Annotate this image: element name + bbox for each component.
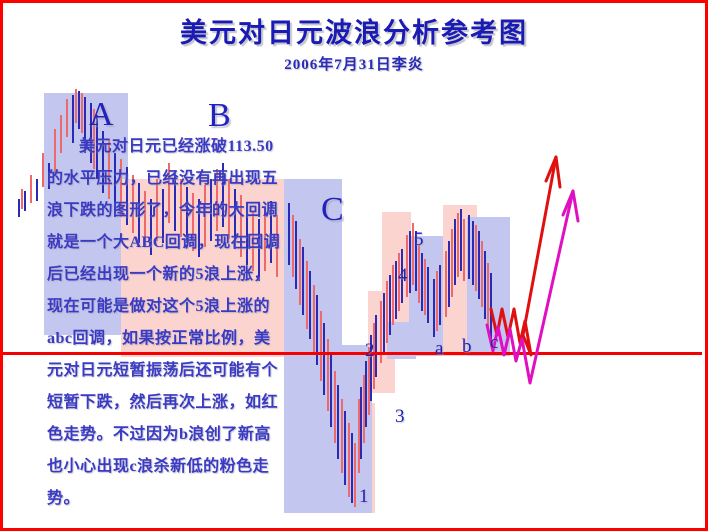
- correction-label-a: A: [89, 98, 114, 132]
- commentary-line: abc回调，如果按正常比例，美: [47, 323, 335, 355]
- commentary-line: 元对日元短暂振荡后还可能有个: [47, 355, 335, 387]
- commentary-line: 的水平压力，已经没有再出现五: [47, 163, 335, 195]
- commentary-line: 也小心出现c浪杀新低的粉色走: [47, 451, 335, 483]
- page-title: 美元对日元波浪分析参考图: [3, 19, 705, 49]
- red-projection: [491, 157, 560, 355]
- wave-label-c: c: [490, 333, 498, 352]
- wave-label-3: 3: [395, 407, 405, 426]
- commentary-line: 短暂下跌，然后再次上涨，如红: [47, 387, 335, 419]
- title-block: 美元对日元波浪分析参考图 2006年7月31日李炎: [3, 19, 705, 74]
- wave-label-2: 2: [365, 341, 375, 360]
- commentary-line: 美元对日元已经涨破113.50: [47, 131, 335, 163]
- correction-label-b: B: [208, 99, 231, 133]
- wave-label-1: 1: [359, 487, 369, 506]
- commentary-line: 就是一个大ABC回调，现在回调: [47, 227, 335, 259]
- commentary-line: 现在可能是做对这个5浪上涨的: [47, 291, 335, 323]
- page-subtitle: 2006年7月31日李炎: [3, 53, 705, 74]
- commentary-line: 色走势。不过因为b浪创了新高: [47, 419, 335, 451]
- commentary-text: 美元对日元已经涨破113.50 的水平压力，已经没有再出现五 浪下跌的图形了，今…: [47, 131, 335, 515]
- wave-label-5: 5: [414, 230, 424, 249]
- wave-label-4: 4: [398, 266, 408, 285]
- commentary-line: 浪下跌的图形了，今年的大回调: [47, 195, 335, 227]
- commentary-line: 势。: [47, 483, 335, 515]
- wave-analysis-chart: 美元对日元波浪分析参考图 2006年7月31日李炎 A B C 1 2 3 4 …: [0, 0, 708, 531]
- commentary-line: 后已经出现一个新的5浪上涨，: [47, 259, 335, 291]
- wave-label-b: b: [462, 337, 472, 356]
- wave-label-a: a: [435, 339, 443, 358]
